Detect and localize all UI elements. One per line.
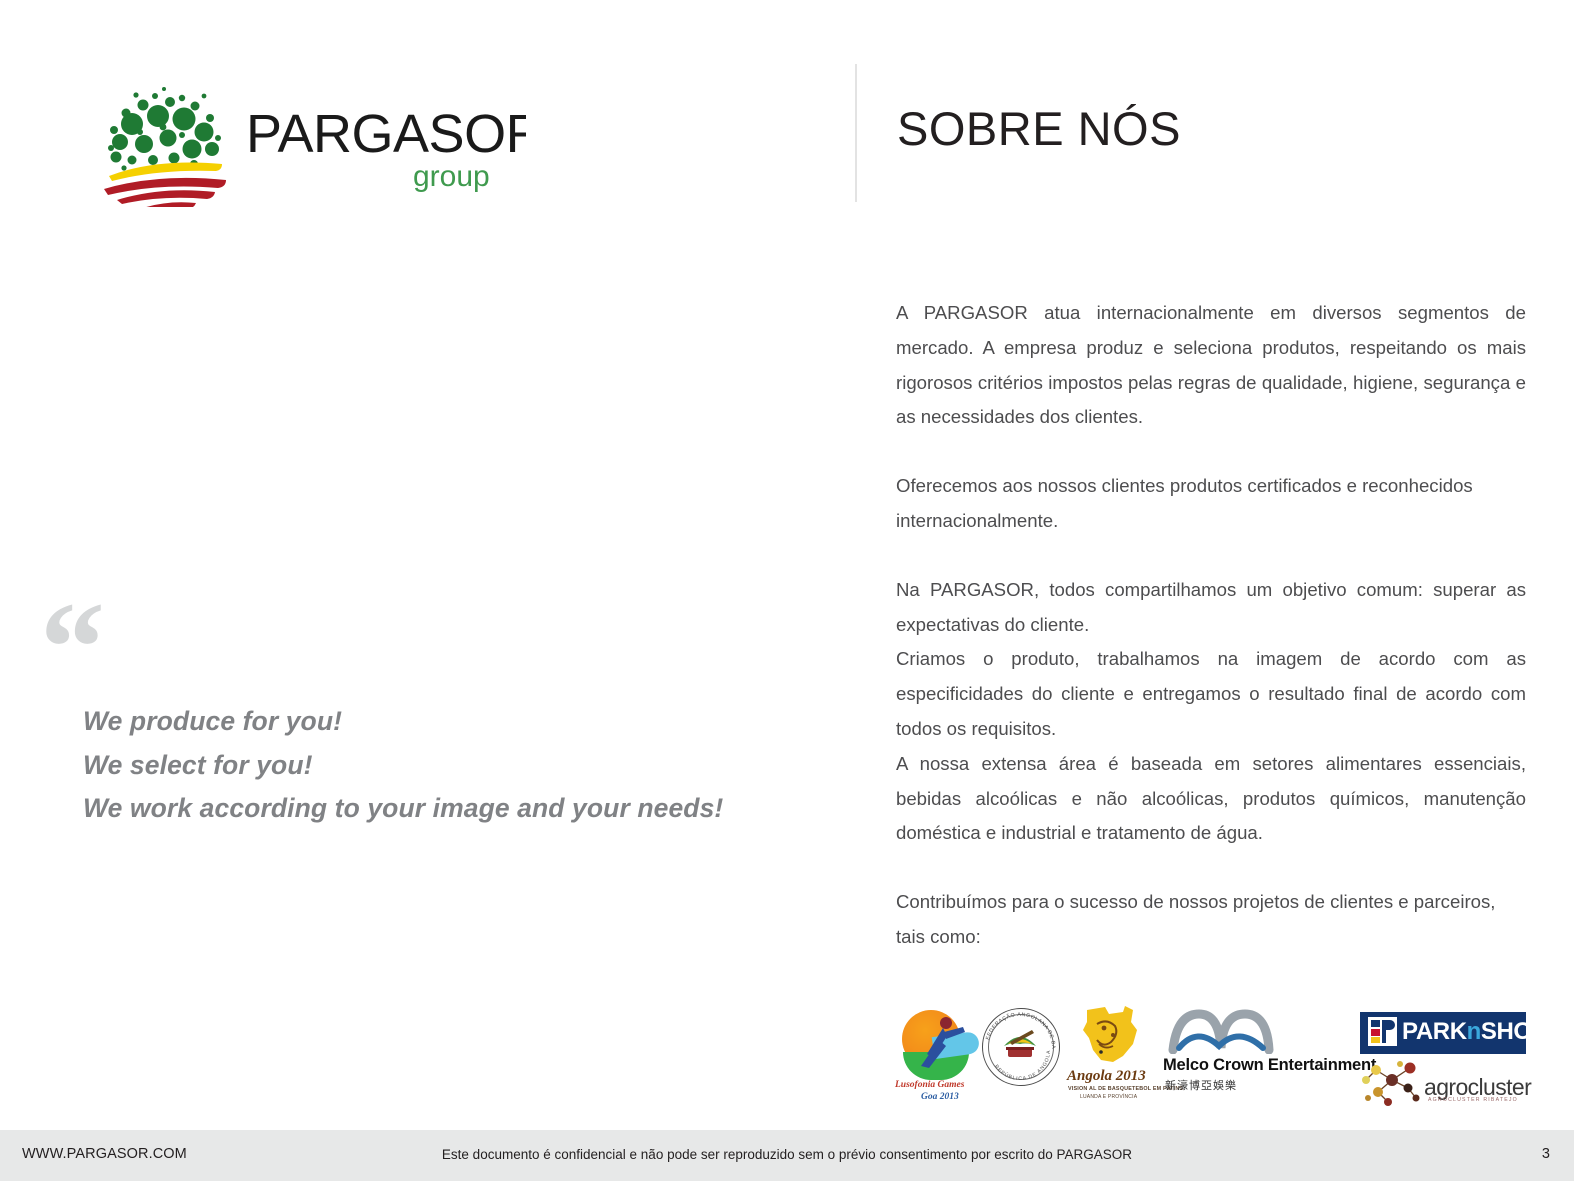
slide-page: PARGASOR group SOBRE NÓS “ We produce fo… [0,0,1574,1181]
spacer [896,435,1526,469]
header-divider [855,64,857,202]
partner-logo-agrocluster: agrocluster AGROCLUSTER RIBATEJO [1358,1058,1528,1110]
paragraph-3: Na PARGASOR, todos compartilhamos um obj… [896,573,1526,643]
quote-open-icon: “ [40,583,105,713]
logo-dome-icon [96,72,231,207]
paragraph-5: A nossa extensa área é baseada em setore… [896,747,1526,851]
footer-page-number: 3 [1542,1146,1550,1162]
quote-block: We produce for you! We select for you! W… [83,700,843,831]
melco-label: Melco Crown Entertainment [1163,1056,1376,1075]
partner-logo-angola-2013: Angola 2013 VISION AL DE BASQUETEBOL EM … [1063,1004,1159,1108]
quote-line-1: We produce for you! [83,700,843,744]
pargasor-logo-mark [96,72,231,207]
page-title: SOBRE NÓS [897,103,1181,155]
about-body: A PARGASOR atua internacionalmente em di… [896,296,1526,955]
paragraph-2: Oferecemos aos nossos clientes produtos … [896,469,1526,539]
spacer [896,539,1526,573]
angola-sub-2: LUANDA E PROVÍNCIA [1080,1094,1137,1100]
svg-text:REPÚBLICA DE ANGOLA: REPÚBLICA DE ANGOLA [993,1049,1052,1082]
parknshop-label: PARKnSHOP [1402,1018,1547,1046]
angola-year-label: Angola 2013 [1067,1068,1146,1085]
agrocluster-molecule-icon [1358,1058,1426,1108]
svg-text:FEDERAÇÃO ANGOLANA DE BASQUETE: FEDERAÇÃO ANGOLANA DE BASQUETEBOL [976,1006,1056,1049]
partner-logos: Lusofonia Games Goa 2013 FEDERAÇÃO ANGOL… [893,1002,1533,1110]
lusofonia-caption-1: Lusofonia Games [895,1080,964,1090]
partner-logo-lusofonia-games: Lusofonia Games Goa 2013 [893,1006,985,1106]
footer-confidentiality-note: Este documento é confidencial e não pode… [0,1147,1574,1162]
partner-logo-parknshop: PARKnSHOP [1360,1012,1526,1054]
spacer [896,851,1526,885]
runner-figure-icon [913,1014,973,1072]
melco-chinese-label: 新濠博亞娛樂 [1165,1077,1237,1093]
partner-logo-melco-crown: Melco Crown Entertainment 新濠博亞娛樂 [1155,1008,1355,1092]
agrocluster-sublabel: AGROCLUSTER RIBATEJO [1428,1097,1518,1103]
pargasor-wordmark: PARGASOR group [246,100,516,195]
parknshop-part1: PARK [1402,1018,1467,1045]
parknshop-part3: SHOP [1481,1018,1547,1045]
paragraph-4: Criamos o produto, trabalhamos na imagem… [896,642,1526,746]
melco-swirl-icon [1167,1008,1277,1054]
quote-line-2: We select for you! [83,744,843,788]
svg-text:group: group [413,160,490,193]
svg-text:PARGASOR: PARGASOR [246,104,526,164]
paragraph-1: A PARGASOR atua internacionalmente em di… [896,296,1526,435]
wordmark-text-icon: PARGASOR group [246,100,526,195]
parknshop-mark-icon [1368,1017,1397,1046]
seal-text-ring-icon: FEDERAÇÃO ANGOLANA DE BASQUETEBOL REPÚBL… [976,1006,1064,1086]
page-footer: WWW.PARGASOR.COM Este documento é confid… [0,1130,1574,1181]
parknshop-part2: n [1467,1018,1481,1045]
angola-map-icon [1079,1004,1141,1070]
lusofonia-caption-2: Goa 2013 [921,1092,959,1102]
partner-logo-federacao-seal: FEDERAÇÃO ANGOLANA DE BASQUETEBOL REPÚBL… [976,1006,1064,1098]
quote-line-3: We work according to your image and your… [83,787,843,831]
paragraph-6: Contribuímos para o sucesso de nossos pr… [896,885,1526,955]
company-logo: PARGASOR group [96,72,516,212]
